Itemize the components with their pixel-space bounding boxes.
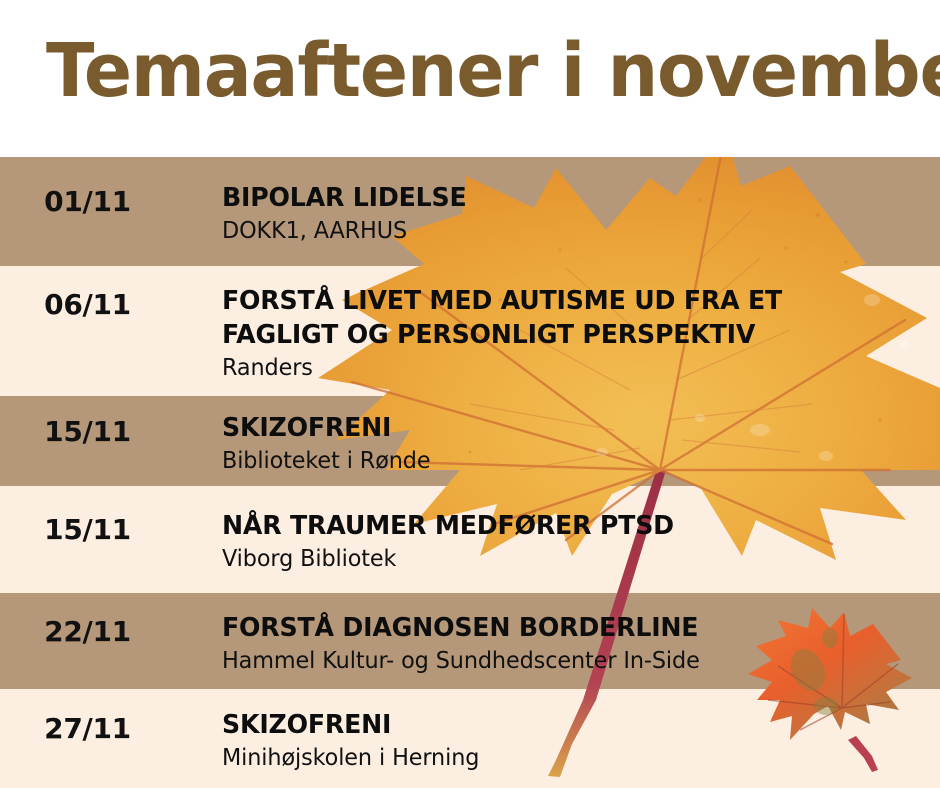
event-date: 06/11 (0, 288, 175, 321)
event-location: Biblioteket i Rønde (222, 446, 901, 476)
page-title: Temaaftener i november (46, 29, 940, 113)
event-title: NÅR TRAUMER MEDFØRER PTSD (222, 509, 901, 543)
event-location: DOKK1, AARHUS (222, 216, 901, 246)
schedule-row[interactable]: 06/11FORSTÅ LIVET MED AUTISME UD FRA ET … (0, 266, 940, 396)
event-details: BIPOLAR LIDELSEDOKK1, AARHUS (222, 181, 922, 246)
event-date: 01/11 (0, 185, 175, 218)
event-title: SKIZOFRENI (222, 708, 901, 742)
event-location: Minihøjskolen i Herning (222, 743, 901, 773)
event-date: 15/11 (0, 513, 175, 546)
schedule-row[interactable]: 15/11NÅR TRAUMER MEDFØRER PTSDViborg Bib… (0, 486, 940, 593)
event-title: BIPOLAR LIDELSE (222, 181, 901, 215)
event-details: SKIZOFRENIBiblioteket i Rønde (222, 411, 922, 476)
event-date: 27/11 (0, 712, 175, 745)
event-title: FORSTÅ LIVET MED AUTISME UD FRA ET FAGLI… (222, 284, 901, 352)
event-details: NÅR TRAUMER MEDFØRER PTSDViborg Bibliote… (222, 509, 922, 574)
header: Temaaftener i november (0, 0, 940, 157)
event-location: Hammel Kultur- og Sundhedscenter In-Side (222, 646, 901, 676)
event-location: Randers (222, 353, 901, 383)
event-date: 22/11 (0, 615, 175, 648)
event-details: SKIZOFRENIMinihøjskolen i Herning (222, 708, 922, 773)
schedule-row[interactable]: 22/11FORSTÅ DIAGNOSEN BORDERLINEHammel K… (0, 593, 940, 689)
event-title: FORSTÅ DIAGNOSEN BORDERLINE (222, 611, 901, 645)
poster: Temaaftener i november 01/11BIPOLAR LIDE… (0, 0, 940, 788)
schedule-row[interactable]: 01/11BIPOLAR LIDELSEDOKK1, AARHUS (0, 157, 940, 266)
event-location: Viborg Bibliotek (222, 544, 901, 574)
schedule-row[interactable]: 15/11SKIZOFRENIBiblioteket i Rønde (0, 396, 940, 486)
event-date: 15/11 (0, 415, 175, 448)
event-details: FORSTÅ DIAGNOSEN BORDERLINEHammel Kultur… (222, 611, 922, 676)
event-title: SKIZOFRENI (222, 411, 901, 445)
event-details: FORSTÅ LIVET MED AUTISME UD FRA ET FAGLI… (222, 284, 922, 383)
schedule-row[interactable]: 27/11SKIZOFRENIMinihøjskolen i Herning (0, 689, 940, 788)
